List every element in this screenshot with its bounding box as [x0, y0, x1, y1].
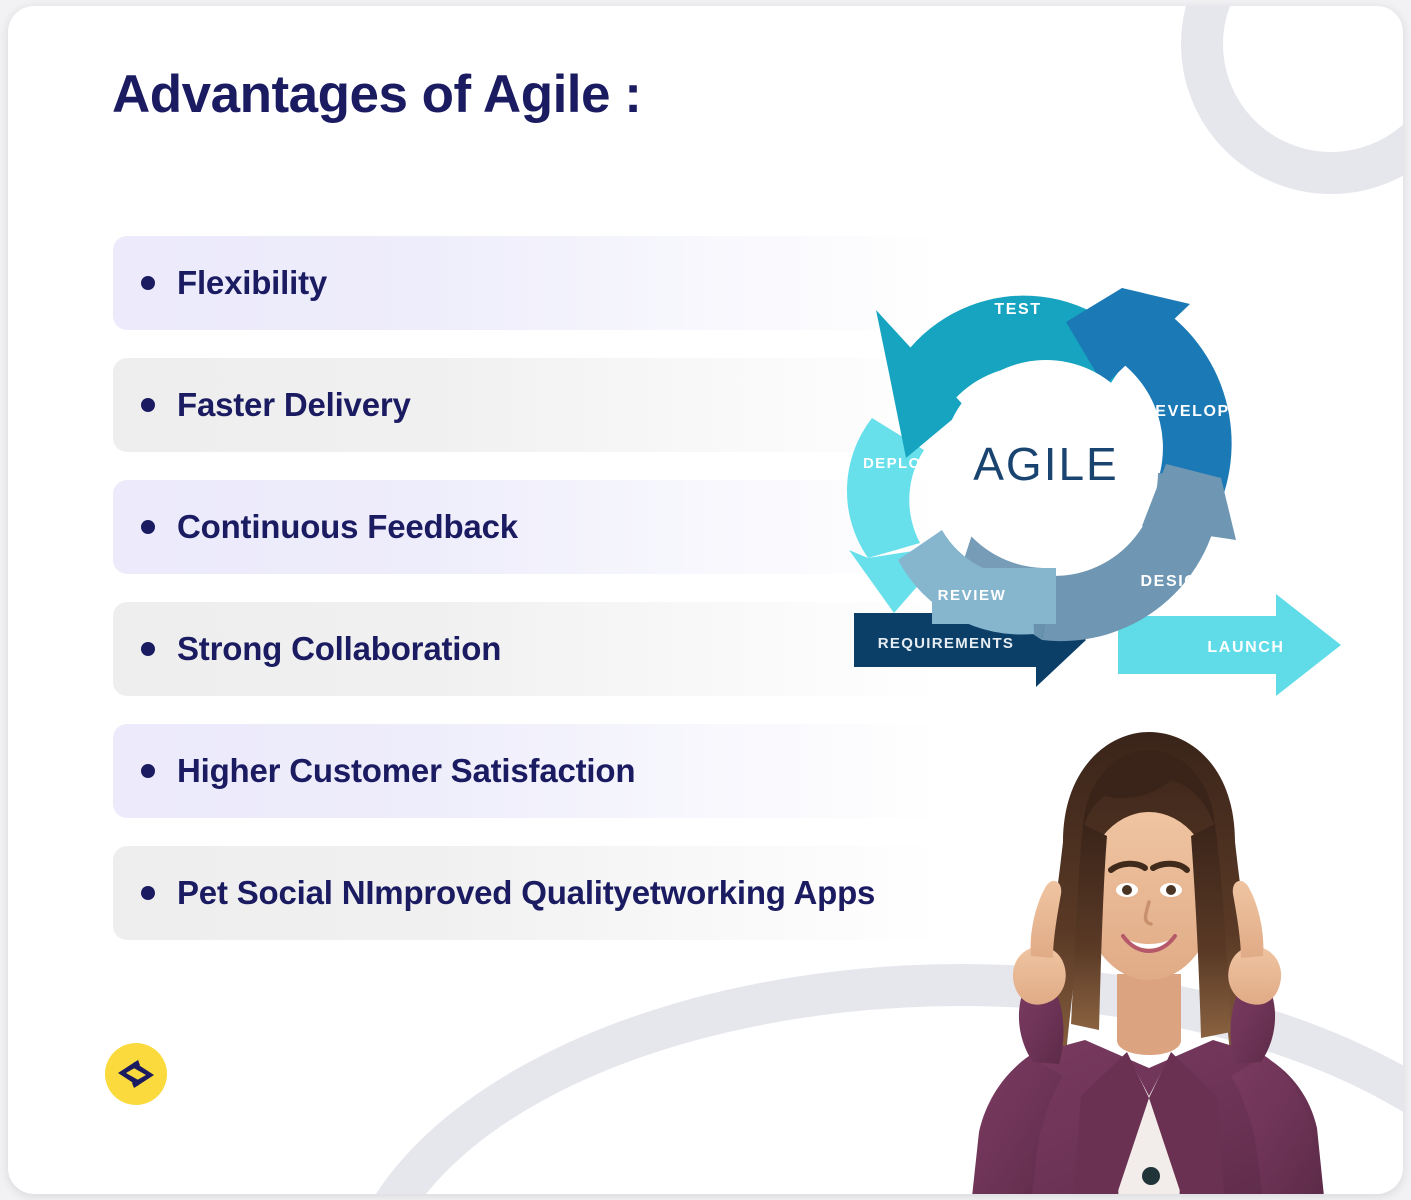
list-item[interactable]: Continuous Feedback — [113, 480, 943, 574]
segment-label-deploy: DEPLOY — [863, 455, 933, 472]
arrow-label-requirements: REQUIREMENTS — [878, 635, 1014, 652]
presenter-photo — [913, 724, 1383, 1194]
eye-right — [1166, 885, 1176, 895]
list-item-label: Strong Collaboration — [177, 630, 501, 668]
list-item-label: Higher Customer Satisfaction — [177, 752, 635, 790]
bullet-icon — [141, 886, 155, 900]
slide-card: Advantages of Agile : Flexibility Faster… — [8, 6, 1403, 1194]
bullet-icon — [141, 398, 155, 412]
list-item-label: Faster Delivery — [177, 386, 411, 424]
logo-mark-lower — [132, 1062, 154, 1088]
list-item-label: Pet Social NImproved Qualityetworking Ap… — [177, 874, 875, 912]
segment-label-test: TEST — [994, 301, 1041, 318]
bullet-icon — [141, 520, 155, 534]
eye-left — [1122, 885, 1132, 895]
agile-center-label: AGILE — [973, 438, 1119, 490]
segment-label-review: REVIEW — [938, 587, 1007, 604]
decorative-ring-shape — [1181, 6, 1403, 194]
advantages-list: Flexibility Faster Delivery Continuous F… — [113, 236, 943, 968]
brand-logo[interactable] — [105, 1043, 167, 1105]
bullet-icon — [141, 642, 155, 656]
bullet-icon — [141, 764, 155, 778]
segment-label-develop: DEVELOP — [1142, 403, 1230, 420]
list-item-label: Flexibility — [177, 264, 327, 302]
segment-label-design: DESIGN — [1141, 573, 1212, 590]
list-item[interactable]: Faster Delivery — [113, 358, 943, 452]
neck — [1117, 974, 1181, 1055]
list-item[interactable]: Higher Customer Satisfaction — [113, 724, 943, 818]
bullet-icon — [141, 276, 155, 290]
list-item[interactable]: Flexibility — [113, 236, 943, 330]
list-item[interactable]: Strong Collaboration — [113, 602, 943, 696]
arrow-label-launch: LAUNCH — [1207, 639, 1284, 656]
list-item-label: Continuous Feedback — [177, 508, 518, 546]
list-item[interactable]: Pet Social NImproved Qualityetworking Ap… — [113, 846, 943, 940]
agile-cycle-diagram: AGILE TEST DEVELOP DESIGN REVIEW DEPLOY … — [846, 268, 1356, 698]
blazer-button — [1142, 1167, 1160, 1185]
page-title: Advantages of Agile : — [112, 64, 641, 125]
